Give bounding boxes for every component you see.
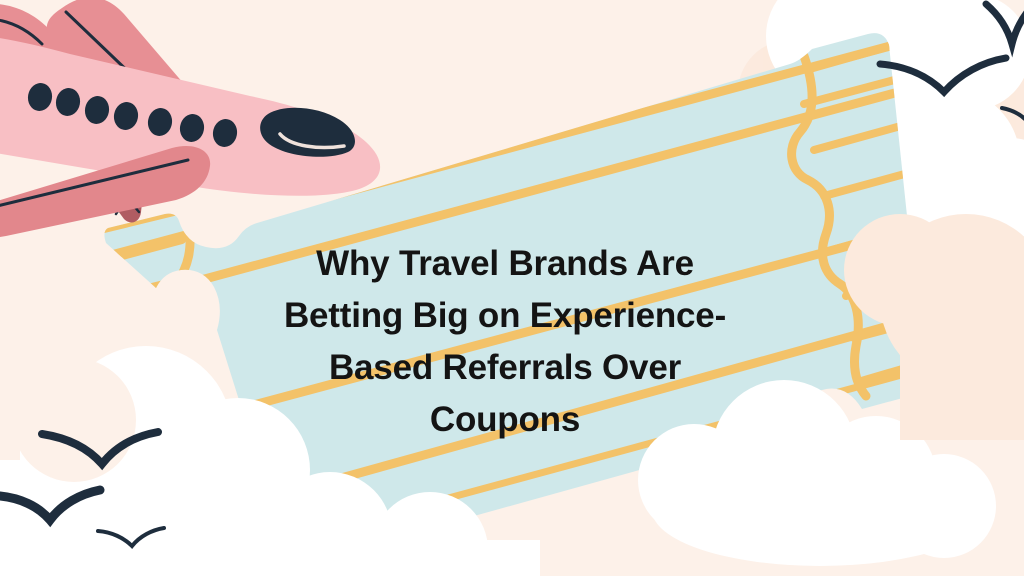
illustration-artboard (0, 0, 1024, 576)
blog-header-banner: Why Travel Brands Are Betting Big on Exp… (0, 0, 1024, 576)
